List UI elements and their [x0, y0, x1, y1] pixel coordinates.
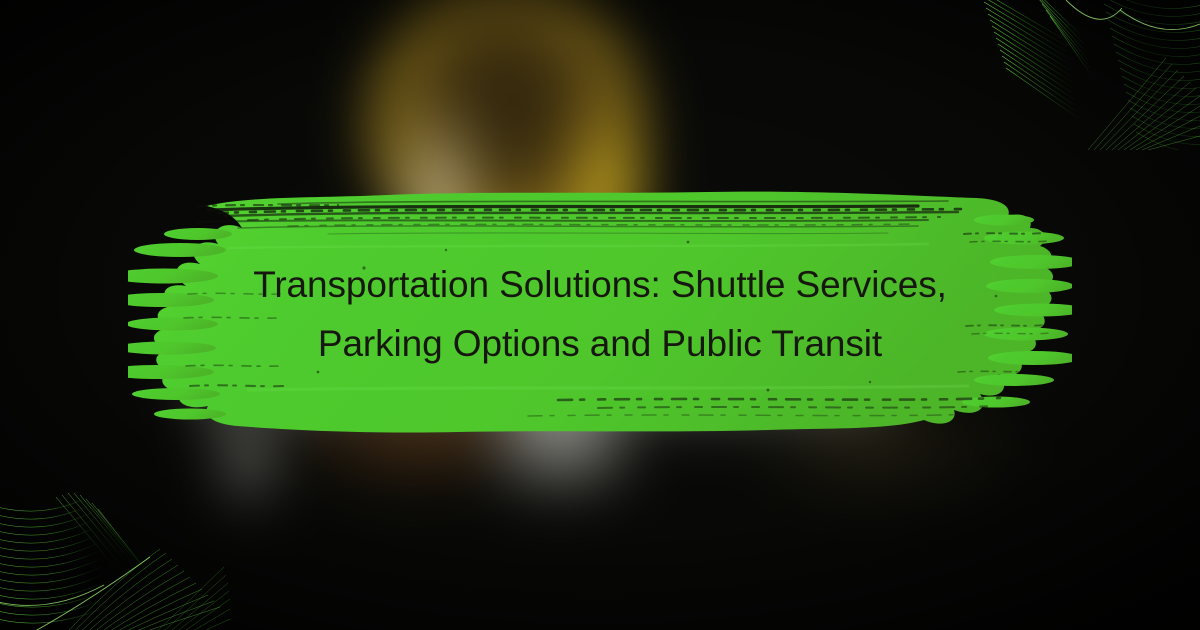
banner-root: Transportation Solutions: Shuttle Servic… [0, 0, 1200, 630]
page-title: Transportation Solutions: Shuttle Servic… [128, 176, 1072, 454]
page-title-line-2: Parking Options and Public Transit [318, 318, 882, 371]
page-title-line-1: Transportation Solutions: Shuttle Servic… [253, 259, 947, 312]
